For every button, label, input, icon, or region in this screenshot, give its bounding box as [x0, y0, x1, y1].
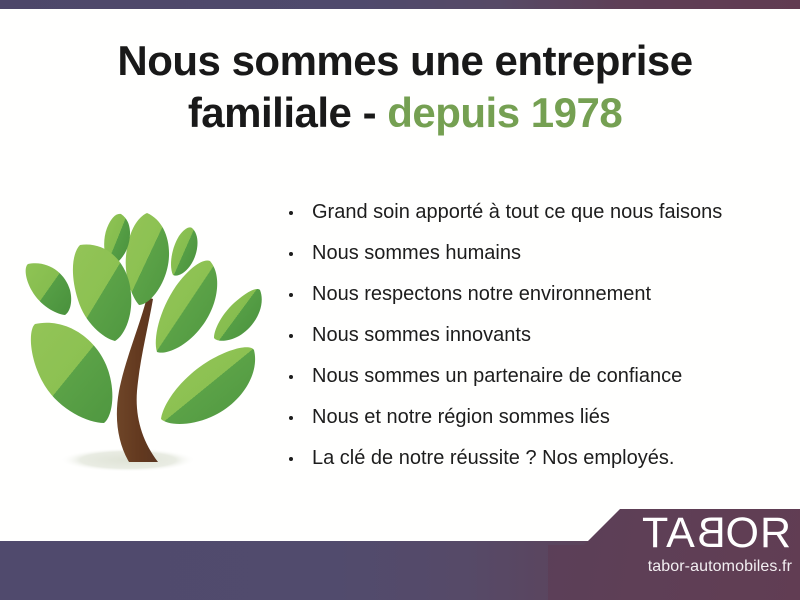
list-item: Nous respectons notre environnement: [286, 274, 786, 315]
tree-leaf: [31, 323, 113, 423]
tree-leaf: [26, 263, 72, 315]
slide-canvas: Nous sommes une entreprise familiale - d…: [0, 0, 800, 600]
tree-illustration: [8, 178, 280, 490]
list-item-label: Nous respectons notre environnement: [312, 283, 651, 305]
top-accent-bar: [0, 0, 800, 9]
headline-line-1: Nous sommes une entreprise: [117, 37, 692, 84]
list-item-label: Nous sommes un partenaire de confiance: [312, 365, 682, 387]
list-item-label: Grand soin apporté à tout ce que nous fa…: [312, 201, 722, 223]
list-item: Nous sommes innovants: [286, 315, 786, 356]
page-title: Nous sommes une entreprise familiale - d…: [60, 35, 750, 139]
headline-line-2-accent: depuis 1978: [387, 89, 622, 136]
list-item: Nous sommes humains: [286, 233, 786, 274]
wordmark-part-2: OR: [726, 509, 793, 557]
bullet-dot-icon: [289, 457, 293, 461]
bullet-dot-icon: [289, 293, 293, 297]
list-item-label: Nous sommes humains: [312, 242, 521, 264]
bullet-dot-icon: [289, 252, 293, 256]
bullet-dot-icon: [289, 416, 293, 420]
wordmark-mirrored-b: B: [696, 511, 726, 555]
list-item: La clé de notre réussite ? Nos employés.: [286, 438, 786, 479]
brand-logo-wordmark[interactable]: TABOR: [596, 511, 792, 555]
tree-leaf: [73, 245, 131, 341]
wordmark-part-1: TA: [642, 509, 696, 557]
list-item-label: Nous sommes innovants: [312, 324, 531, 346]
list-item: Nous sommes un partenaire de confiance: [286, 356, 786, 397]
bullet-dot-icon: [289, 334, 293, 338]
brand-tagline[interactable]: tabor-automobiles.fr: [596, 558, 792, 576]
benefits-list: Grand soin apporté à tout ce que nous fa…: [286, 192, 786, 479]
list-item-label: La clé de notre réussite ? Nos employés.: [312, 447, 674, 469]
headline-line-2-plain: familiale -: [188, 89, 387, 136]
bullet-dot-icon: [289, 211, 293, 215]
tree-leaf: [161, 347, 255, 424]
tree-leaf: [214, 289, 262, 341]
tree-leaf: [126, 213, 169, 305]
list-item: Grand soin apporté à tout ce que nous fa…: [286, 192, 786, 233]
list-item-label: Nous et notre région sommes liés: [312, 406, 610, 428]
bullet-dot-icon: [289, 375, 293, 379]
list-item: Nous et notre région sommes liés: [286, 397, 786, 438]
